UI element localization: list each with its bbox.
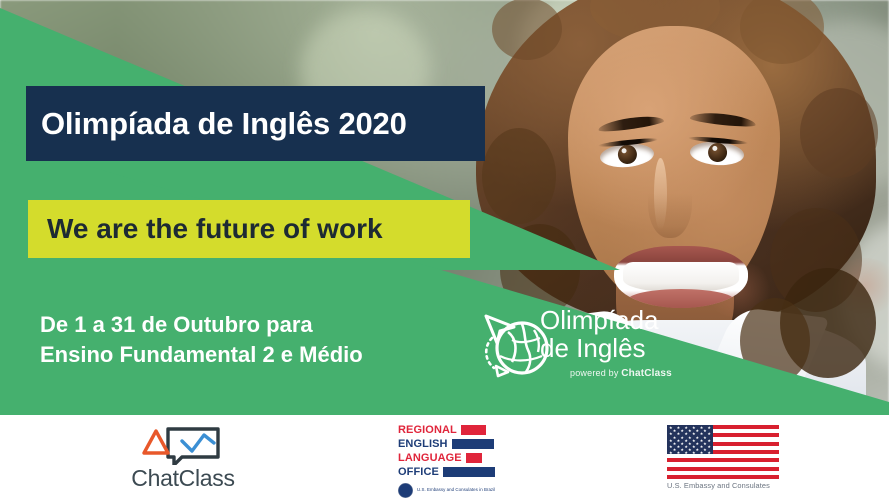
relo-seal-row: U.S. Embassy and Consulates in Brazil	[398, 483, 506, 498]
relo-logo: REGIONAL ENGLISH LANGUAGE OFFICE	[398, 424, 506, 494]
olimpiada-wordmark: Olimpíada de Inglês	[540, 306, 690, 362]
title-banner: Olimpíada de Inglês 2020	[26, 86, 485, 161]
relo-row-office: OFFICE	[398, 466, 506, 479]
us-department-of-state-seal-icon	[398, 483, 413, 498]
powered-by-tag: powered by ChatClass	[570, 368, 672, 379]
flag-stripe	[667, 475, 779, 479]
promotional-poster: Olimpíada de Inglês 2020 We are the futu…	[0, 0, 889, 500]
star-icon: ★	[667, 451, 675, 455]
star-icon: ★	[682, 451, 690, 455]
star-icon: ★	[690, 451, 698, 455]
embassy-caption: U.S. Embassy and Consulates	[667, 481, 779, 490]
star-icon: ★	[698, 451, 706, 455]
event-details: De 1 a 31 de Outubro para Ensino Fundame…	[40, 310, 460, 371]
relo-word-regional: REGIONAL	[398, 424, 457, 437]
chatclass-brand-label: ChatClass	[621, 368, 672, 379]
star-row: ★★★★★★	[667, 451, 713, 455]
sponsor-footer: ChatClass REGIONAL ENGLISH LANGUAGE OFFI…	[0, 415, 889, 500]
iris	[617, 144, 638, 165]
relo-row-regional: REGIONAL	[398, 424, 506, 437]
relo-seal-caption: U.S. Embassy and Consulates in Brazil	[417, 487, 495, 493]
olimpiada-logo: Olimpíada de Inglês powered by ChatClass	[478, 306, 688, 394]
event-audience-line: Ensino Fundamental 2 e Médio	[40, 340, 460, 370]
hair-curl	[482, 128, 556, 224]
smiling-mouth	[614, 246, 748, 308]
tagline-banner: We are the future of work	[28, 200, 470, 258]
relo-bar	[466, 453, 482, 463]
relo-row-language: LANGUAGE	[398, 452, 506, 465]
flag-stripe	[667, 458, 779, 462]
teeth	[623, 262, 739, 292]
relo-bar	[461, 425, 486, 435]
chatclass-name: ChatClass	[118, 465, 248, 492]
us-flag-icon: ★★★★★★ ★★★★★ ★★★★★★ ★★★★★ ★★★★★★	[667, 425, 779, 479]
relo-word-language: LANGUAGE	[398, 452, 462, 465]
olimpiada-line-2: de Inglês	[540, 334, 690, 362]
relo-row-english: ENGLISH	[398, 438, 506, 451]
relo-bar	[443, 467, 495, 477]
relo-bar	[452, 439, 494, 449]
star-icon: ★	[705, 451, 713, 455]
event-dates-line: De 1 a 31 de Outubro para	[40, 310, 460, 340]
chatclass-logo: ChatClass	[118, 423, 248, 497]
olimpiada-line-1: Olimpíada	[540, 306, 690, 334]
powered-by-label: powered by	[570, 368, 619, 378]
flag-canton: ★★★★★★ ★★★★★ ★★★★★★ ★★★★★ ★★★★★★	[667, 425, 713, 454]
relo-word-english: ENGLISH	[398, 438, 448, 451]
hair-curl	[800, 88, 878, 178]
chatclass-speech-bubble-icon	[134, 423, 230, 465]
star-icon: ★	[675, 451, 683, 455]
tagline-text: We are the future of work	[28, 213, 383, 245]
iris	[707, 142, 727, 162]
page-title: Olimpíada de Inglês 2020	[26, 106, 407, 142]
relo-word-office: OFFICE	[398, 466, 439, 479]
flag-stripe	[667, 467, 779, 471]
us-embassy-logo: ★★★★★★ ★★★★★ ★★★★★★ ★★★★★ ★★★★★★	[667, 425, 779, 493]
nose-highlight	[654, 158, 667, 230]
hair-curl	[492, 0, 562, 60]
